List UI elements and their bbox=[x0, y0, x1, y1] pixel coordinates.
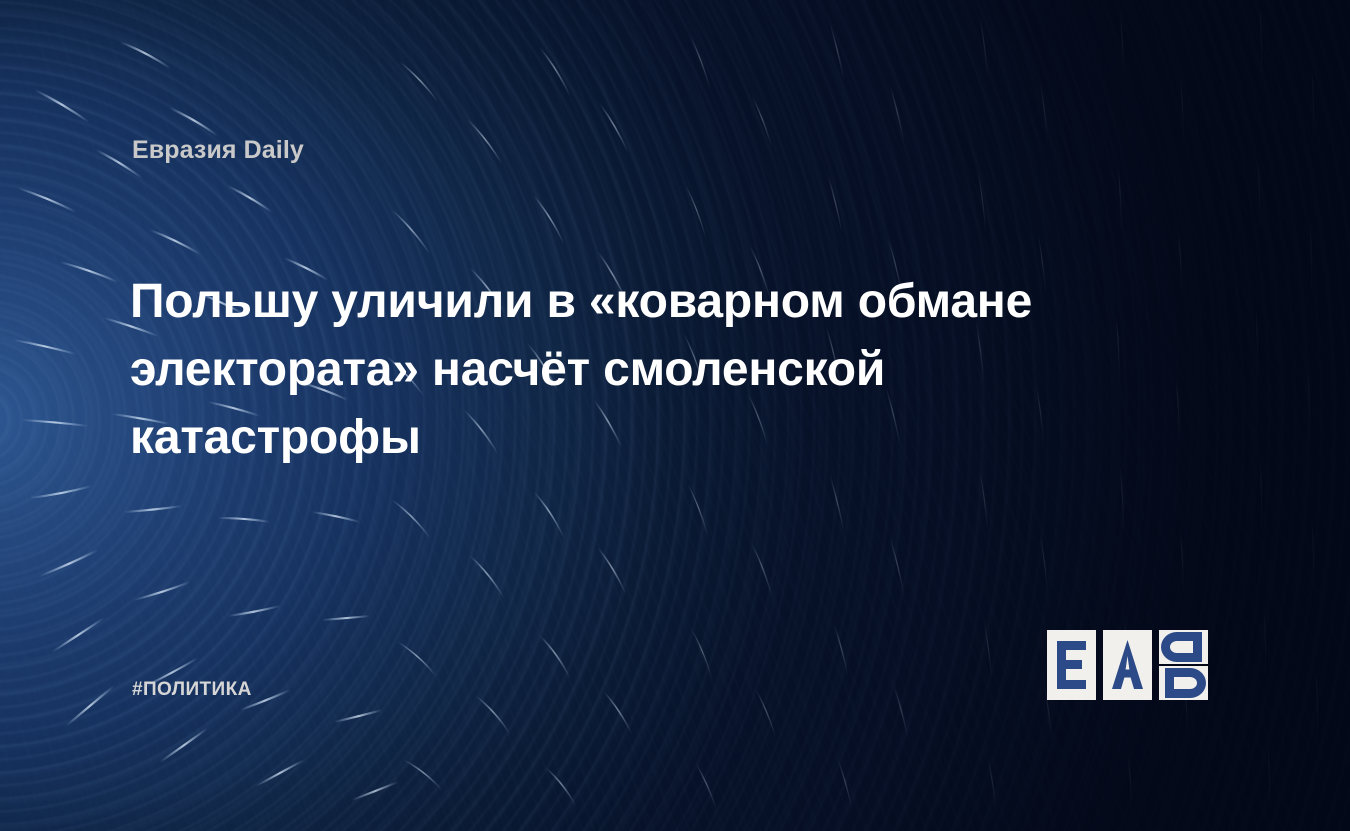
logo-tile-d-lower bbox=[1159, 666, 1208, 700]
page-title: Польшу уличили в «коварном обмане электо… bbox=[130, 268, 1170, 472]
logo-tile-a bbox=[1103, 630, 1152, 700]
share-card: Евразия Daily Польшу уличили в «коварном… bbox=[0, 0, 1350, 831]
category-tag: #ПОЛИТИКА bbox=[132, 679, 252, 701]
logo-tile-d-upper bbox=[1159, 630, 1208, 664]
logo-tile-d bbox=[1159, 630, 1208, 700]
eadaily-logo bbox=[1047, 630, 1208, 700]
brand-wordmark: Евразия Daily bbox=[132, 136, 304, 165]
logo-tile-e bbox=[1047, 630, 1096, 700]
